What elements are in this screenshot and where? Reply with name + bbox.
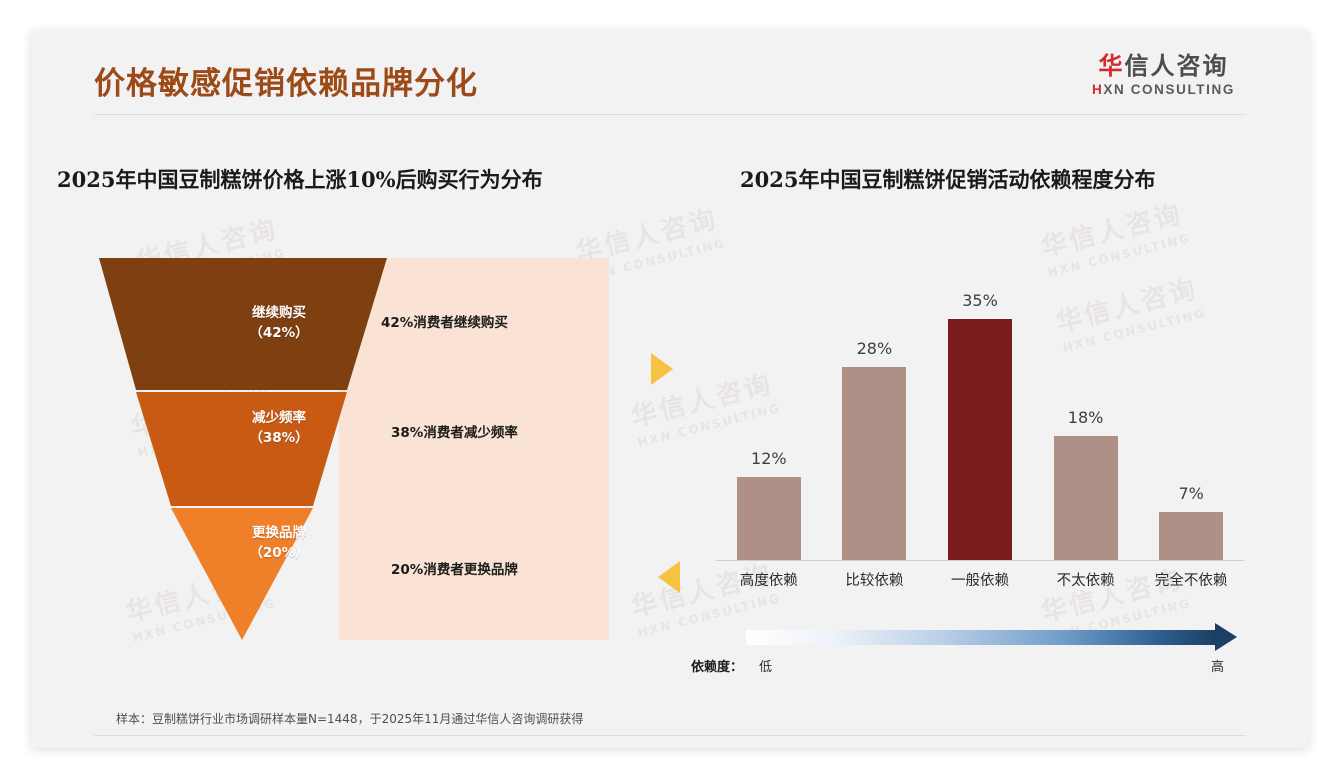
funnel-segment-1[interactable]	[136, 392, 347, 506]
x-axis-tick-label: 一般依赖	[927, 569, 1032, 590]
funnel-annotation: 42%消费者继续购买	[381, 311, 508, 331]
slide-header: 价格敏感促销依赖品牌分化 华信人咨询 HXN CONSULTING	[31, 30, 1309, 115]
bar-rect[interactable]	[948, 319, 1012, 560]
arrow-right-icon	[1215, 623, 1237, 651]
source-note: 样本：豆制糕饼行业市场调研样本量N=1448，于2025年11月通过华信人咨询调…	[116, 710, 583, 727]
bar-chart: 12%28%35%18%7% 高度依赖比较依赖一般依赖不太依赖完全不依赖	[686, 285, 1261, 585]
left-chart-heading: 2025年中国豆制糕饼价格上涨10%后购买行为分布	[57, 164, 543, 194]
play-right-icon	[651, 353, 673, 385]
funnel-annotation: 20%消费者更换品牌	[391, 558, 518, 578]
bar-rect[interactable]	[1054, 436, 1118, 560]
bar-column: 35%	[927, 285, 1032, 560]
gradient-bar	[746, 630, 1216, 645]
bar-value-label: 28%	[857, 339, 893, 358]
bar-rect[interactable]	[842, 367, 906, 560]
watermark-cn: 华信人咨询	[1037, 193, 1189, 265]
logo-english-rest: XN CONSULTING	[1103, 82, 1235, 97]
bar-value-label: 35%	[962, 291, 998, 310]
logo-english-accent: H	[1092, 82, 1103, 97]
funnel-segment-0[interactable]	[99, 258, 387, 390]
title-divider	[94, 114, 1246, 115]
x-axis-labels: 高度依赖比较依赖一般依赖不太依赖完全不依赖	[716, 569, 1244, 590]
watermark: 华信人咨询 HXN CONSULTING	[1037, 193, 1193, 280]
bar-column: 18%	[1033, 285, 1138, 560]
legend-high-label: 高	[1211, 656, 1224, 675]
watermark-en: HXN CONSULTING	[1046, 231, 1192, 280]
x-axis-line	[716, 560, 1244, 561]
legend-caption: 依赖度：	[691, 656, 743, 675]
dependency-gradient-legend: 依赖度： 低 高	[691, 626, 1271, 682]
legend-low-label: 低	[759, 656, 772, 675]
slide-canvas: 华信人咨询 HXN CONSULTING 华信人咨询 HXN CONSULTIN…	[31, 30, 1309, 748]
bar-column: 28%	[822, 285, 927, 560]
logo-chinese: 华信人咨询	[1076, 54, 1251, 79]
bar-value-label: 7%	[1178, 484, 1203, 503]
funnel-shape	[99, 258, 609, 640]
x-axis-tick-label: 不太依赖	[1033, 569, 1138, 590]
footer-divider	[94, 735, 1246, 736]
logo-chinese-accent: 华	[1099, 52, 1125, 80]
funnel-segment-2[interactable]	[171, 508, 313, 640]
page-title: 价格敏感促销依赖品牌分化	[94, 58, 478, 103]
bar-value-label: 12%	[751, 449, 787, 468]
bar-rect[interactable]	[1159, 512, 1223, 560]
x-axis-tick-label: 完全不依赖	[1139, 569, 1244, 590]
x-axis-tick-label: 比较依赖	[822, 569, 927, 590]
right-chart-heading: 2025年中国豆制糕饼促销活动依赖程度分布	[740, 164, 1155, 194]
company-logo: 华信人咨询 HXN CONSULTING	[1076, 54, 1251, 97]
bar-value-label: 18%	[1068, 408, 1104, 427]
logo-chinese-rest: 信人咨询	[1125, 52, 1229, 80]
funnel-chart: 继续购买 （42%） 减少频率 （38%） 更换品牌 （20%） 42%消费者继…	[99, 258, 609, 640]
logo-english: HXN CONSULTING	[1076, 82, 1251, 97]
bar-rect[interactable]	[737, 477, 801, 560]
bar-column: 12%	[716, 285, 821, 560]
bar-series: 12%28%35%18%7%	[716, 285, 1244, 560]
bar-column: 7%	[1139, 285, 1244, 560]
play-left-icon	[658, 561, 680, 593]
x-axis-tick-label: 高度依赖	[716, 569, 821, 590]
funnel-annotation: 38%消费者减少频率	[391, 421, 518, 441]
